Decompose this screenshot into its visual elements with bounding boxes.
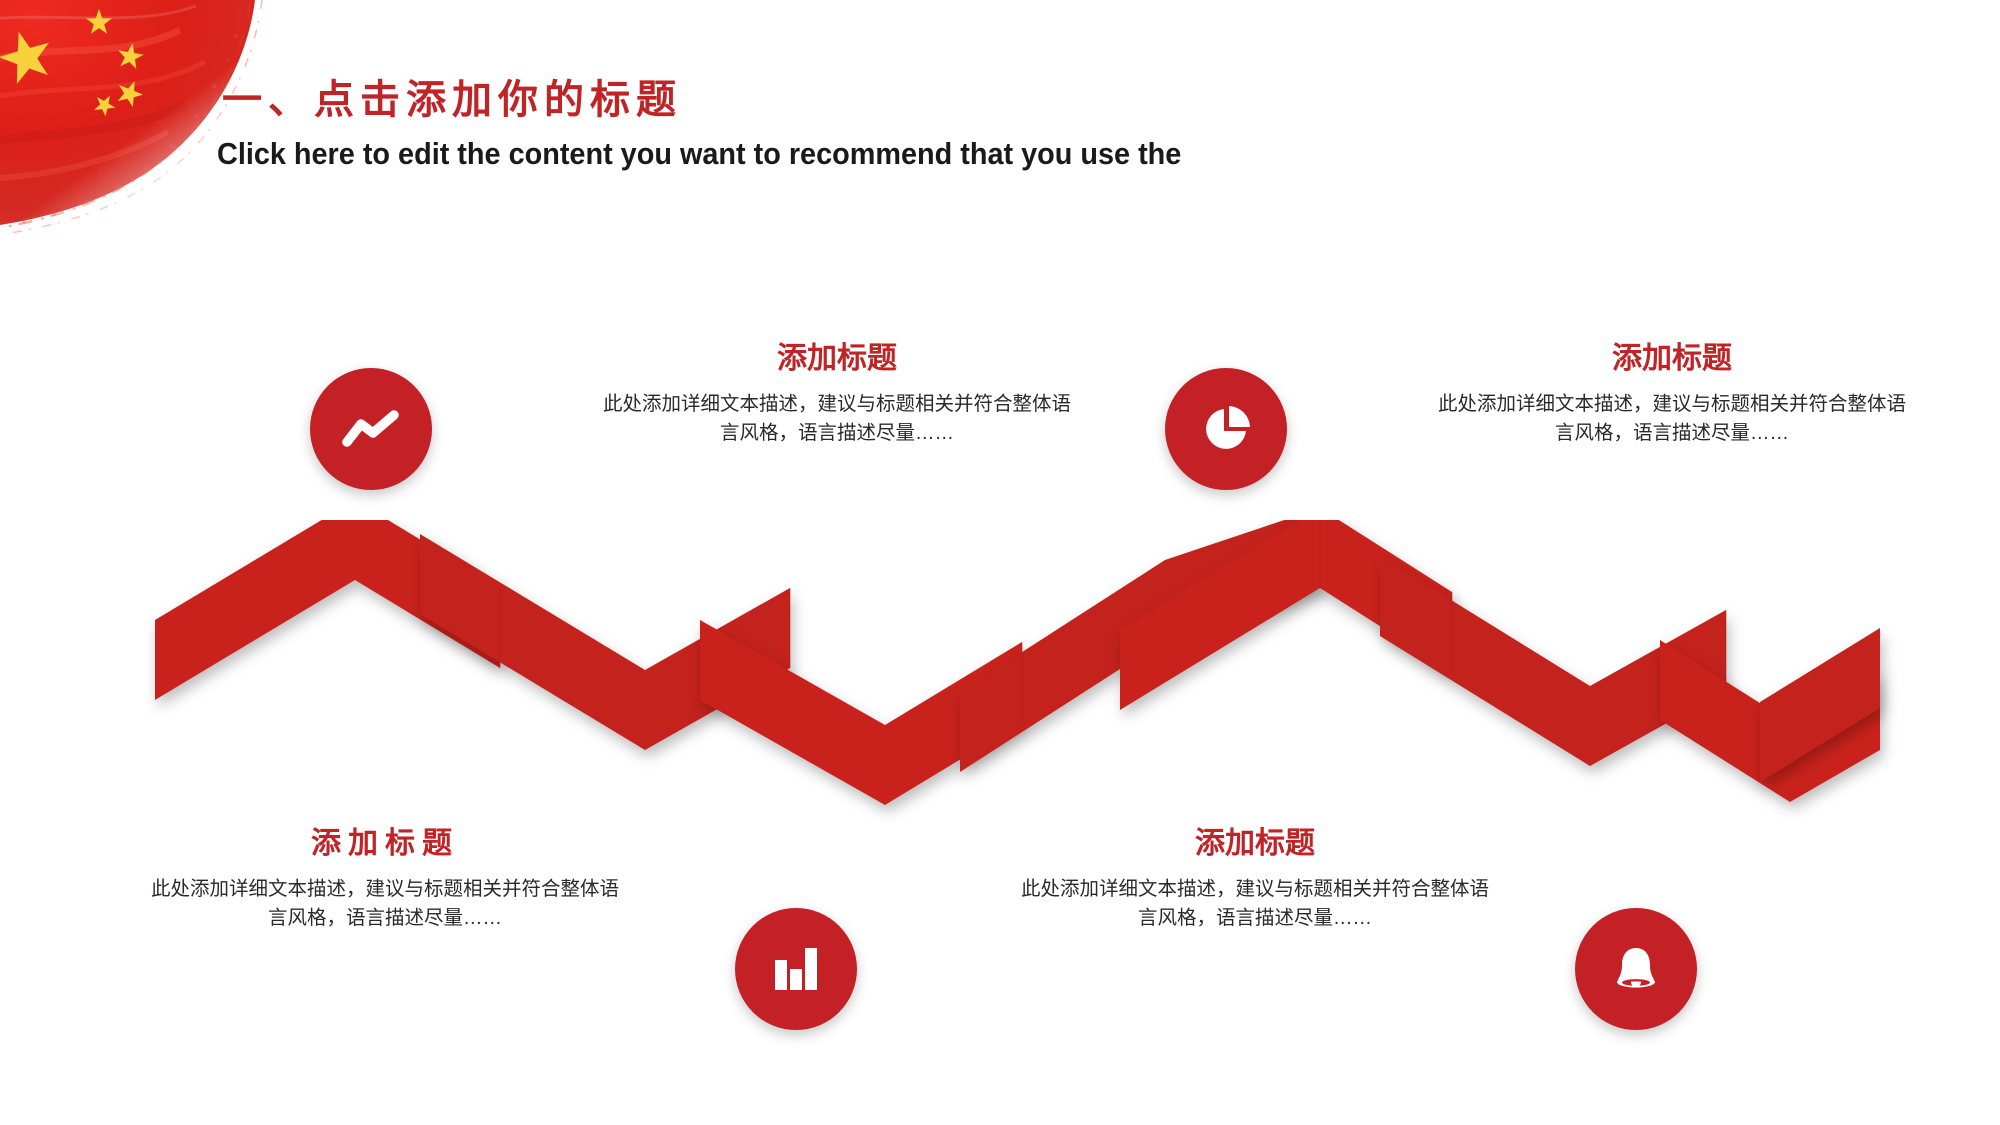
block-title: 添加标题 <box>602 340 1072 378</box>
block-body: 此处添加详细文本描述，建议与标题相关并符合整体语言风格，语言描述尽量…… <box>1020 875 1490 934</box>
block-body: 此处添加详细文本描述，建议与标题相关并符合整体语言风格，语言描述尽量…… <box>602 390 1072 449</box>
block-title: 添加标题 <box>1437 340 1907 378</box>
content-block-bottom-right: 添加标题 此处添加详细文本描述，建议与标题相关并符合整体语言风格，语言描述尽量…… <box>1020 825 1490 934</box>
content-block-top-left: 添加标题 此处添加详细文本描述，建议与标题相关并符合整体语言风格，语言描述尽量…… <box>602 340 1072 449</box>
block-title: 添加标题 <box>150 825 620 863</box>
pie-chart-icon <box>1200 403 1252 455</box>
content-block-top-right: 添加标题 此处添加详细文本描述，建议与标题相关并符合整体语言风格，语言描述尽量…… <box>1437 340 1907 449</box>
icon-badge-bars[interactable] <box>735 908 857 1030</box>
block-title: 添加标题 <box>1020 825 1490 863</box>
line-chart-zigzag-icon <box>342 409 400 449</box>
bell-icon <box>1612 944 1660 994</box>
slide-header: 一、点击添加你的标题 Click here to edit the conten… <box>222 78 1522 172</box>
icon-badge-trend[interactable] <box>310 368 432 490</box>
block-body: 此处添加详细文本描述，建议与标题相关并符合整体语言风格，语言描述尽量…… <box>1437 390 1907 449</box>
flag-stars <box>0 9 147 118</box>
page-subtitle: Click here to edit the content you want … <box>217 135 1431 172</box>
page-title: 一、点击添加你的标题 <box>222 78 1522 122</box>
zigzag-ribbon-graphic <box>0 520 2000 850</box>
icon-badge-bell[interactable] <box>1575 908 1697 1030</box>
icon-badge-pie[interactable] <box>1165 368 1287 490</box>
content-block-bottom-left: 添加标题 此处添加详细文本描述，建议与标题相关并符合整体语言风格，语言描述尽量…… <box>150 825 620 934</box>
bar-chart-icon <box>773 945 819 993</box>
block-body: 此处添加详细文本描述，建议与标题相关并符合整体语言风格，语言描述尽量…… <box>150 875 620 934</box>
